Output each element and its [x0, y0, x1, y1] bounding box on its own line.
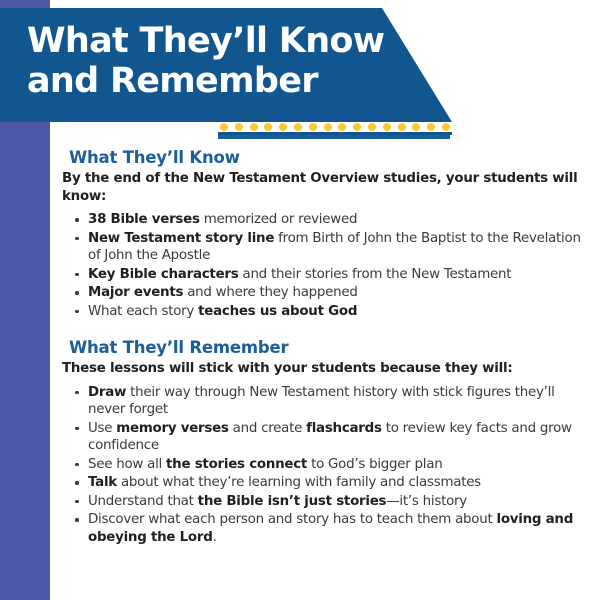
list-item: Draw their way through New Testament his… [88, 384, 588, 419]
divider-dot [398, 123, 406, 131]
divider-dot [412, 123, 420, 131]
divider-dot [442, 123, 450, 131]
divider-dot [324, 123, 332, 131]
divider-dot [309, 123, 317, 131]
section-what-theyll-remember: What They’ll Remember These lessons will… [62, 338, 590, 546]
divider-dot [250, 123, 258, 131]
bullet-text: See how all [88, 457, 166, 472]
divider-dot [264, 123, 272, 131]
divider-dot [235, 123, 243, 131]
section-what-theyll-know: What They’ll Know By the end of the New … [62, 148, 590, 320]
bullet-bold-tail: teaches us about God [198, 304, 357, 319]
bullet-text: Discover what each person and story has … [88, 512, 497, 527]
bullet-text: their way through New Testament history … [88, 385, 555, 418]
divider-dot [353, 123, 361, 131]
bullet-list-remember: Draw their way through New Testament his… [62, 384, 590, 547]
bullet-text: and their stories from the New Testament [238, 267, 511, 282]
bullet-text-2: . [213, 530, 217, 545]
section-heading-know: What They’ll Know [69, 148, 590, 168]
list-item: New Testament story line from Birth of J… [88, 230, 588, 265]
bullet-bold-lead: 38 Bible verses [88, 212, 200, 227]
bullet-list-know: 38 Bible verses memorized or reviewed Ne… [62, 211, 590, 320]
bullet-bold-lead: New Testament story line [88, 231, 274, 246]
list-item: Use memory verses and create flashcards … [88, 420, 588, 455]
divider-dot-row [220, 122, 450, 131]
content-area: What They’ll Know By the end of the New … [50, 148, 600, 547]
bullet-bold-mid: the stories connect [166, 457, 307, 472]
bullet-text: Understand that [88, 494, 198, 509]
bullet-text: What each story [88, 304, 198, 319]
bullet-text: Use [88, 421, 116, 436]
divider-dot [383, 123, 391, 131]
list-item: Key Bible characters and their stories f… [88, 266, 588, 284]
bullet-bold-mid: the Bible isn’t just stories [198, 494, 387, 509]
bullet-bold-lead: Major events [88, 285, 183, 300]
list-item: See how all the stories connect to God’s… [88, 456, 588, 474]
divider-dot [427, 123, 435, 131]
list-item: Talk about what they’re learning with fa… [88, 474, 588, 492]
bullet-bold-lead: Talk [88, 475, 117, 490]
page-title: What They’ll Know and Remember [27, 21, 387, 101]
list-item: Understand that the Bible isn’t just sto… [88, 493, 588, 511]
bullet-bold-mid-2: flashcards [306, 421, 382, 436]
list-item: 38 Bible verses memorized or reviewed [88, 211, 588, 229]
section-intro-remember: These lessons will stick with your stude… [62, 360, 582, 378]
bullet-text: and where they happened [183, 285, 357, 300]
divider-dot [294, 123, 302, 131]
bullet-text-2: and create [229, 421, 306, 436]
bullet-bold-mid: memory verses [116, 421, 228, 436]
divider-dot [368, 123, 376, 131]
list-item: Discover what each person and story has … [88, 511, 588, 546]
section-heading-remember: What They’ll Remember [69, 338, 590, 358]
list-item: What each story teaches us about God [88, 303, 588, 321]
bullet-text: about what they’re learning with family … [117, 475, 481, 490]
divider-dot [279, 123, 287, 131]
divider-bar-lower [218, 135, 450, 139]
list-item: Major events and where they happened [88, 284, 588, 302]
bullet-bold-lead: Key Bible characters [88, 267, 238, 282]
header-banner: What They’ll Know and Remember [0, 8, 452, 122]
dotted-divider [218, 122, 452, 140]
divider-dot [220, 123, 228, 131]
bullet-text: memorized or reviewed [200, 212, 358, 227]
divider-dot [338, 123, 346, 131]
bullet-text-2: to God’s bigger plan [307, 457, 442, 472]
bullet-bold-lead: Draw [88, 385, 126, 400]
section-intro-know: By the end of the New Testament Overview… [62, 170, 582, 205]
bullet-text-2: —it’s history [386, 494, 467, 509]
